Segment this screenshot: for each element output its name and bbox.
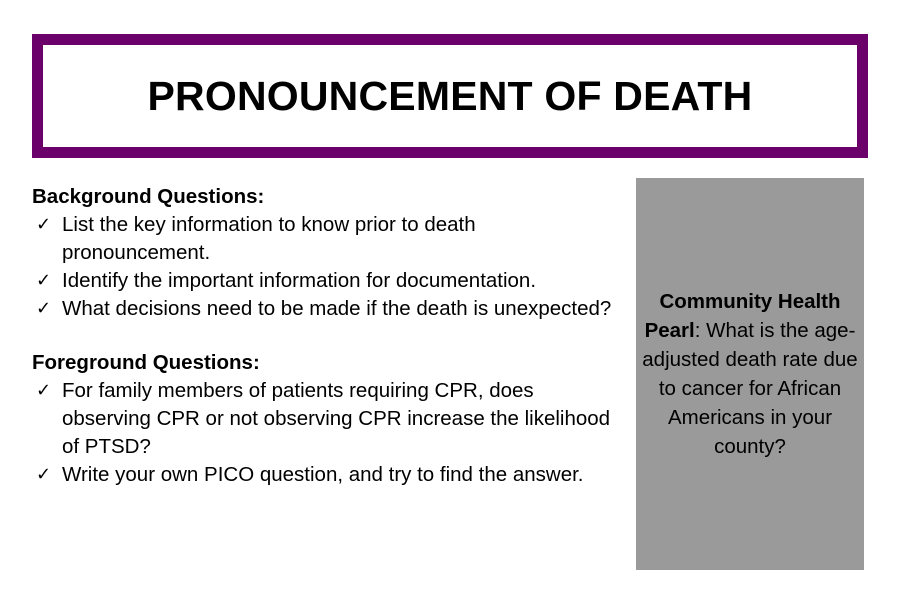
list-item-label: Write your own PICO question, and try to…	[62, 463, 584, 486]
list-item-label: List the key information to know prior t…	[62, 213, 476, 264]
list-item: ✓ Write your own PICO question, and try …	[32, 461, 612, 489]
section-foreground-questions: Foreground Questions: ✓ For family membe…	[32, 349, 612, 489]
page-title: PRONOUNCEMENT OF DEATH	[148, 76, 753, 117]
section-background-questions: Background Questions: ✓ List the key inf…	[32, 183, 612, 323]
content-column: Background Questions: ✓ List the key inf…	[32, 183, 612, 489]
pearl-separator: :	[695, 319, 701, 342]
check-icon: ✓	[36, 211, 51, 239]
bullet-list: ✓ For family members of patients requiri…	[32, 377, 612, 489]
list-item: ✓ For family members of patients requiri…	[32, 377, 612, 461]
slide-title-banner: PRONOUNCEMENT OF DEATH	[32, 34, 868, 158]
section-heading: Foreground Questions:	[32, 349, 612, 377]
list-item: ✓ Identify the important information for…	[32, 267, 612, 295]
check-icon: ✓	[36, 461, 51, 489]
list-item: ✓ What decisions need to be made if the …	[32, 295, 612, 323]
check-icon: ✓	[36, 295, 51, 323]
list-item-label: Identify the important information for d…	[62, 269, 536, 292]
community-health-pearl-panel: Community Health Pearl: What is the age-…	[636, 178, 864, 570]
check-icon: ✓	[36, 267, 51, 295]
list-item: ✓ List the key information to know prior…	[32, 211, 612, 267]
pearl-text: Community Health Pearl: What is the age-…	[642, 287, 858, 461]
check-icon: ✓	[36, 377, 51, 405]
list-item-label: What decisions need to be made if the de…	[62, 297, 611, 320]
list-item-label: For family members of patients requiring…	[62, 379, 610, 458]
section-heading: Background Questions:	[32, 183, 612, 211]
bullet-list: ✓ List the key information to know prior…	[32, 211, 612, 323]
